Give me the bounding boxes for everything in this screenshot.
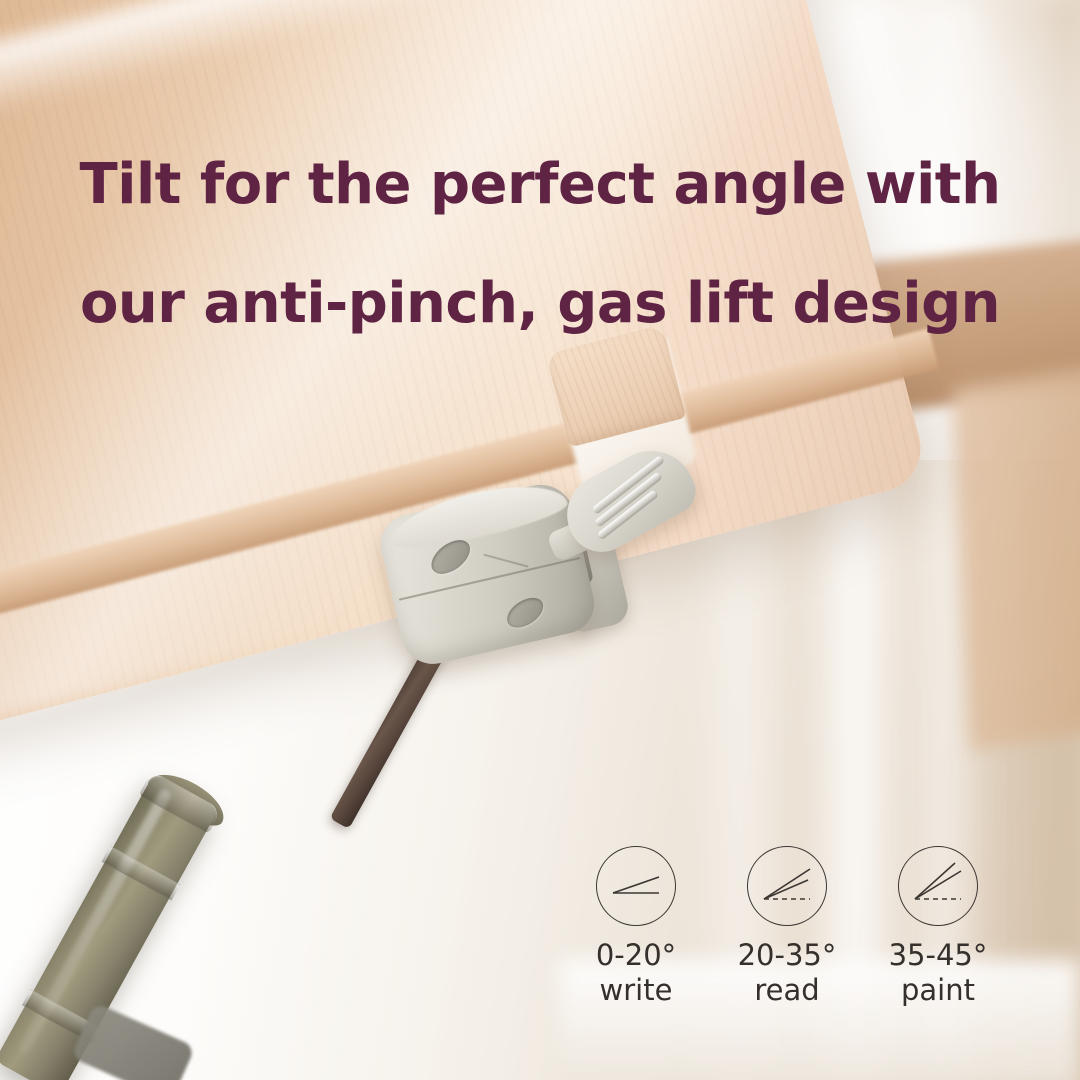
angle-degrees-label: 0-20° (572, 938, 700, 973)
angle-mode-write: 0-20° write (572, 846, 700, 1009)
angle-degrees-label: 35-45° (874, 938, 1002, 973)
angle-use-label: paint (874, 973, 1002, 1008)
angle-mode-paint: 35-45° paint (874, 846, 1002, 1009)
angle-degrees-label: 20-35° (723, 938, 851, 973)
background-chair-leg (952, 353, 1080, 750)
lever-grip-rib (592, 455, 664, 513)
angle-35-45-icon (898, 846, 978, 926)
angle-use-label: write (572, 973, 700, 1008)
angle-0-20-icon (596, 846, 676, 926)
headline-line-1: Tilt for the perfect angle with (0, 155, 1080, 214)
angle-20-35-icon (747, 846, 827, 926)
headline: Tilt for the perfect angle with our anti… (0, 96, 1080, 393)
angle-use-label: read (723, 973, 851, 1008)
angle-mode-row: 0-20° write 20-35° read (572, 846, 1002, 1009)
product-feature-image: Tilt for the perfect angle with our anti… (0, 0, 1080, 1080)
headline-line-2: our anti-pinch, gas lift design (0, 274, 1080, 333)
angle-mode-read: 20-35° read (723, 846, 851, 1009)
